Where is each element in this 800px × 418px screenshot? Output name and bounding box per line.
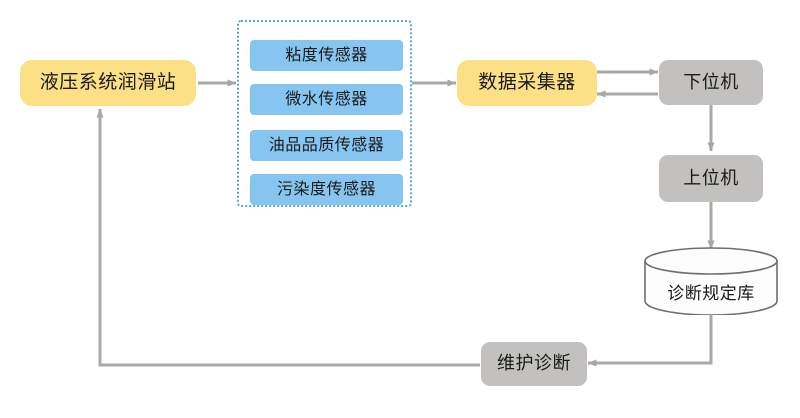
node-maintenance-diagnosis[interactable]: 维护诊断 [481,342,587,386]
node-label: 微水传感器 [285,91,368,109]
sensor-group-container: 粘度传感器 微水传感器 油品品质传感器 污染度传感器 [237,20,412,207]
node-sensor-contamination[interactable]: 污染度传感器 [250,174,403,205]
node-label: 上位机 [683,169,739,189]
node-sensor-moisture[interactable]: 微水传感器 [250,84,403,115]
diagram-canvas: 液压系统润滑站 粘度传感器 微水传感器 油品品质传感器 污染度传感器 数据采集器… [0,0,800,418]
node-label: 粘度传感器 [285,47,368,65]
node-diagnostic-rule-database[interactable]: 诊断规定库 [643,247,779,315]
node-label: 污染度传感器 [277,181,376,199]
node-label: 下位机 [683,73,739,93]
node-label: 维护诊断 [497,354,571,374]
node-upper-computer[interactable]: 上位机 [659,155,763,202]
node-sensor-viscosity[interactable]: 粘度传感器 [250,40,403,71]
node-sensor-oil-quality[interactable]: 油品品质传感器 [250,130,403,161]
node-data-collector[interactable]: 数据采集器 [457,60,597,106]
node-label: 油品品质传感器 [269,137,385,155]
node-label: 数据采集器 [478,73,576,94]
node-label: 诊断规定库 [643,279,779,304]
node-lower-computer[interactable]: 下位机 [659,60,763,105]
node-label: 液压系统润滑站 [40,73,177,94]
connector-database-to-maintenance [588,313,711,363]
node-hydraulic-lubrication-station[interactable]: 液压系统润滑站 [20,60,196,106]
